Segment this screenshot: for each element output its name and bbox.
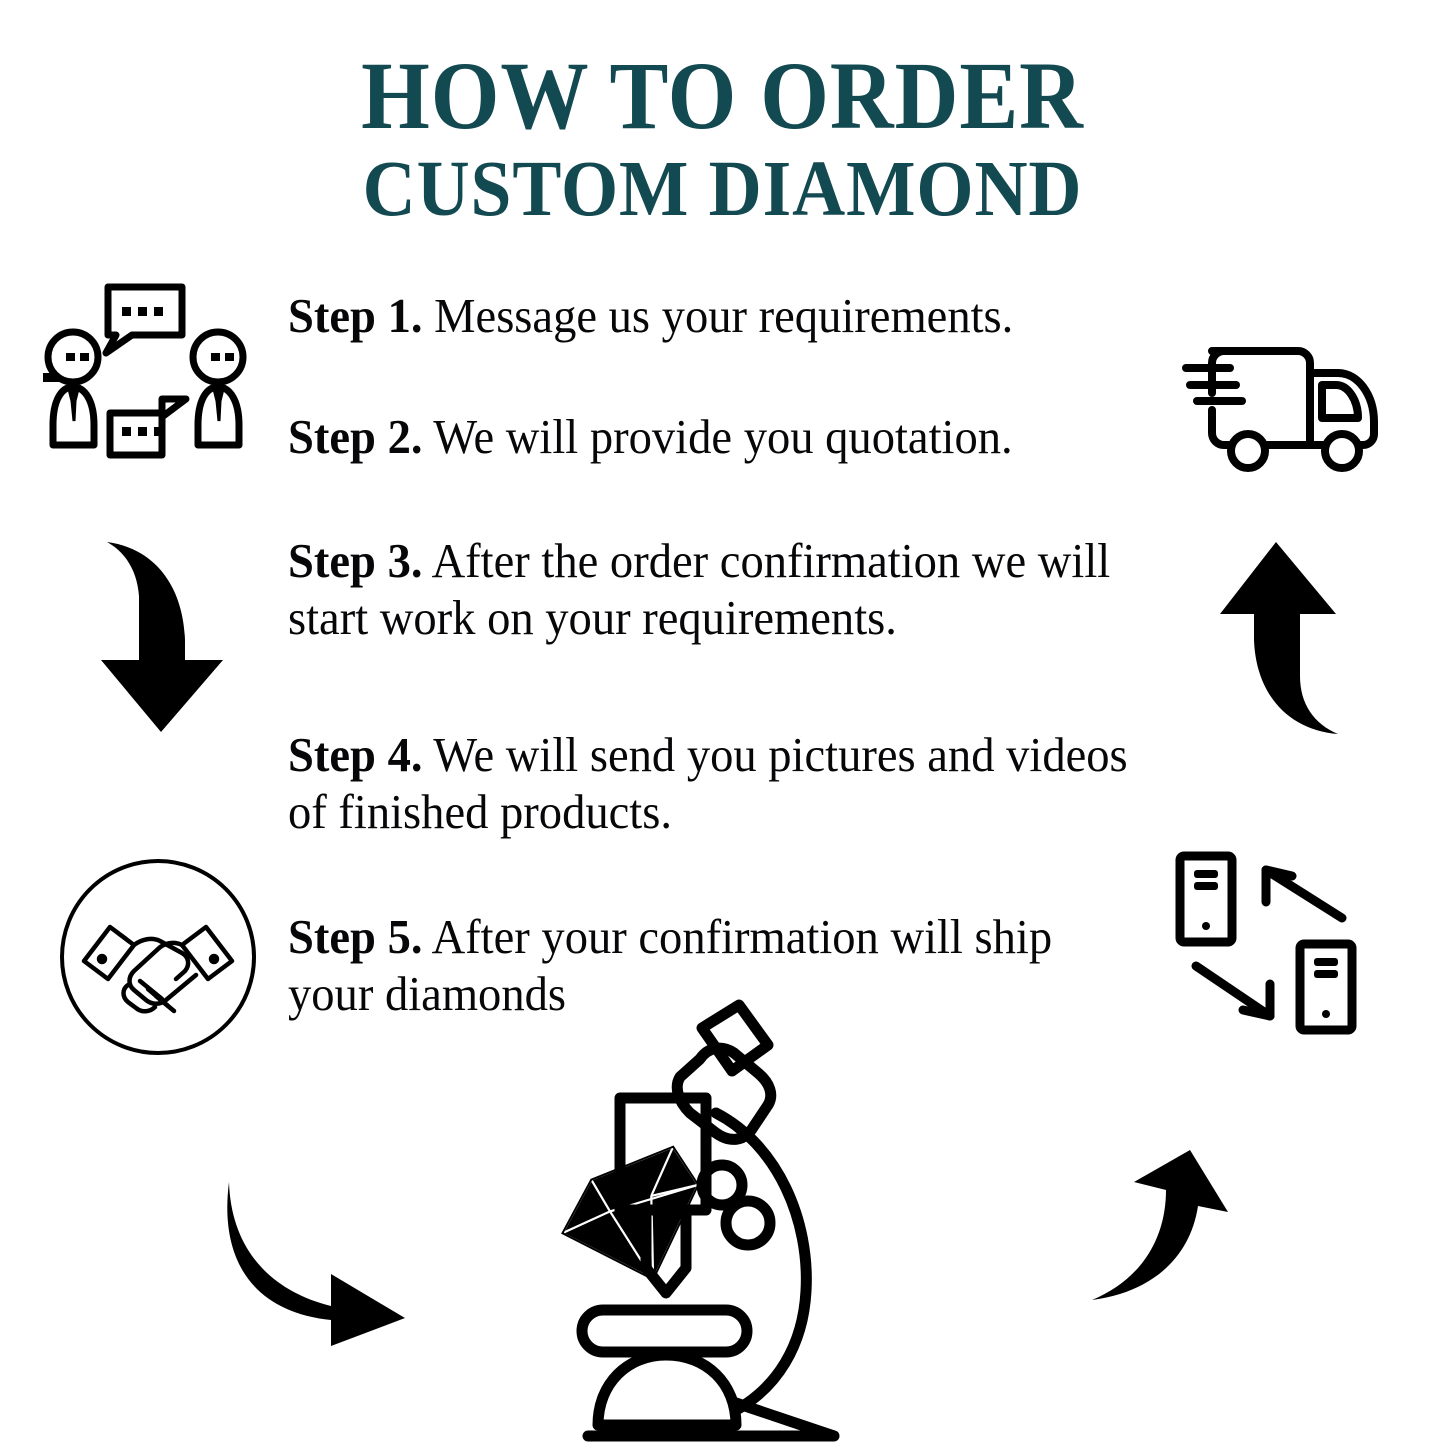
step-item-2: Step 2. We will provide you quotation. [288, 408, 1143, 465]
business-chat-icon [36, 277, 256, 467]
device-data-transfer-icon [1170, 848, 1385, 1058]
step-1-label: Step 1. [288, 288, 422, 343]
infographic-canvas: HOW TO ORDER CUSTOM DIAMOND Step 1. Mess… [0, 0, 1445, 1445]
step-item-3: Step 3. After the order confirmation we … [288, 532, 1143, 646]
step-4-label: Step 4. [288, 727, 422, 782]
step-item-4: Step 4. We will send you pictures and vi… [288, 726, 1143, 840]
curved-arrow-up-icon [1214, 536, 1354, 741]
step-2-label: Step 2. [288, 409, 422, 464]
step-2-text: We will provide you quotation. [422, 409, 1012, 464]
curved-arrow-up-right-icon [1030, 1140, 1245, 1325]
title-line-1: HOW TO ORDER [58, 48, 1387, 144]
diamond-gem-icon [548, 1143, 722, 1302]
handshake-circle-icon [56, 855, 261, 1060]
step-5-label: Step 5. [288, 909, 422, 964]
page-title: HOW TO ORDER CUSTOM DIAMOND [0, 48, 1445, 229]
curved-arrow-right-down-icon [205, 1168, 420, 1348]
step-item-1: Step 1. Message us your requirements. [288, 287, 1143, 344]
step-3-label: Step 3. [288, 533, 422, 588]
curved-arrow-down-icon [95, 536, 235, 736]
title-line-2: CUSTOM DIAMOND [51, 150, 1395, 229]
microscope-icon [520, 995, 920, 1445]
step-1-text: Message us your requirements. [422, 288, 1013, 343]
delivery-truck-icon [1168, 330, 1400, 480]
